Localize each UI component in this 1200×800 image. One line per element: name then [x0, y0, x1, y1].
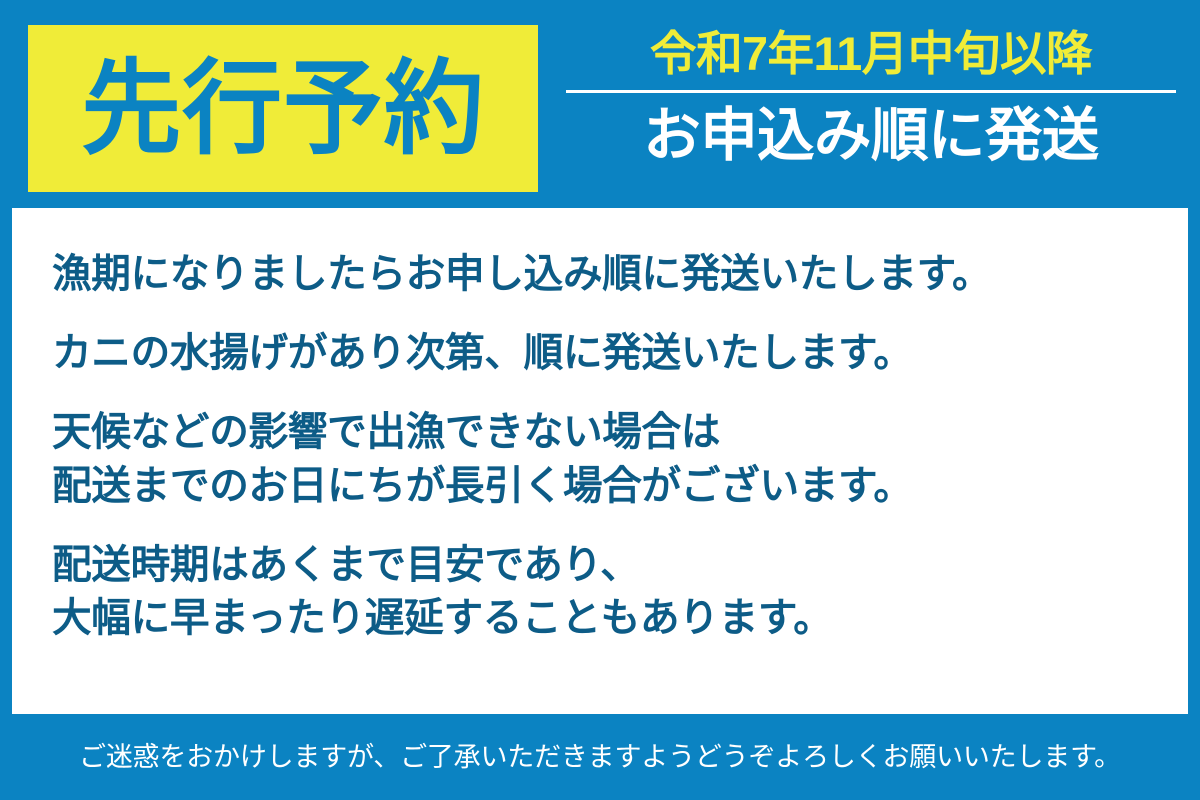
notice-line: 配送までのお日にちが長引く場合がございます。: [52, 460, 1177, 513]
notice-line: 大幅に早まったり遅延することもあります。: [52, 592, 1177, 645]
notice-line: カニの水揚げがあり次第、順に発送いたします。: [52, 327, 1177, 380]
notice-line: 漁期になりましたらお申し込み順に発送いたします。: [52, 248, 1177, 301]
notice-paragraph: 漁期になりましたらお申し込み順に発送いたします。: [52, 248, 1188, 301]
notice-line: 天候などの影響で出漁できない場合は: [52, 406, 1177, 459]
advance-reservation-badge-label: 先行予約: [81, 57, 485, 160]
notice-paragraph: 天候などの影響で出漁できない場合は 配送までのお日にちが長引く場合がございます。: [52, 406, 1188, 512]
advance-reservation-badge: 先行予約: [28, 25, 538, 192]
shipping-order-headline: お申込み順に発送: [569, 93, 1173, 165]
notice-paragraph: カニの水揚げがあり次第、順に発送いたします。: [52, 327, 1188, 380]
notice-paragraph: 配送時期はあくまで目安であり、 大幅に早まったり遅延することもあります。: [52, 539, 1188, 645]
banner-header: 先行予約 令和7年11月中旬以降 お申込み順に発送: [0, 0, 1200, 208]
header-schedule-block: 令和7年11月中旬以降 お申込み順に発送: [566, 20, 1176, 195]
footer-apology-note: ご迷惑をおかけしますが、ご了承いただきますようどうぞよろしくお願いいたします。: [79, 744, 1121, 771]
shipping-start-date: 令和7年11月中旬以降: [569, 20, 1173, 77]
notice-line: 配送時期はあくまで目安であり、: [52, 539, 1177, 592]
banner-footer: ご迷惑をおかけしますが、ご了承いただきますようどうぞよろしくお願いいたします。: [0, 714, 1200, 800]
notice-content-panel: 漁期になりましたらお申し込み順に発送いたします。 カニの水揚げがあり次第、順に発…: [12, 208, 1188, 714]
shipping-notice-banner: 先行予約 令和7年11月中旬以降 お申込み順に発送 漁期になりましたらお申し込み…: [0, 0, 1200, 800]
